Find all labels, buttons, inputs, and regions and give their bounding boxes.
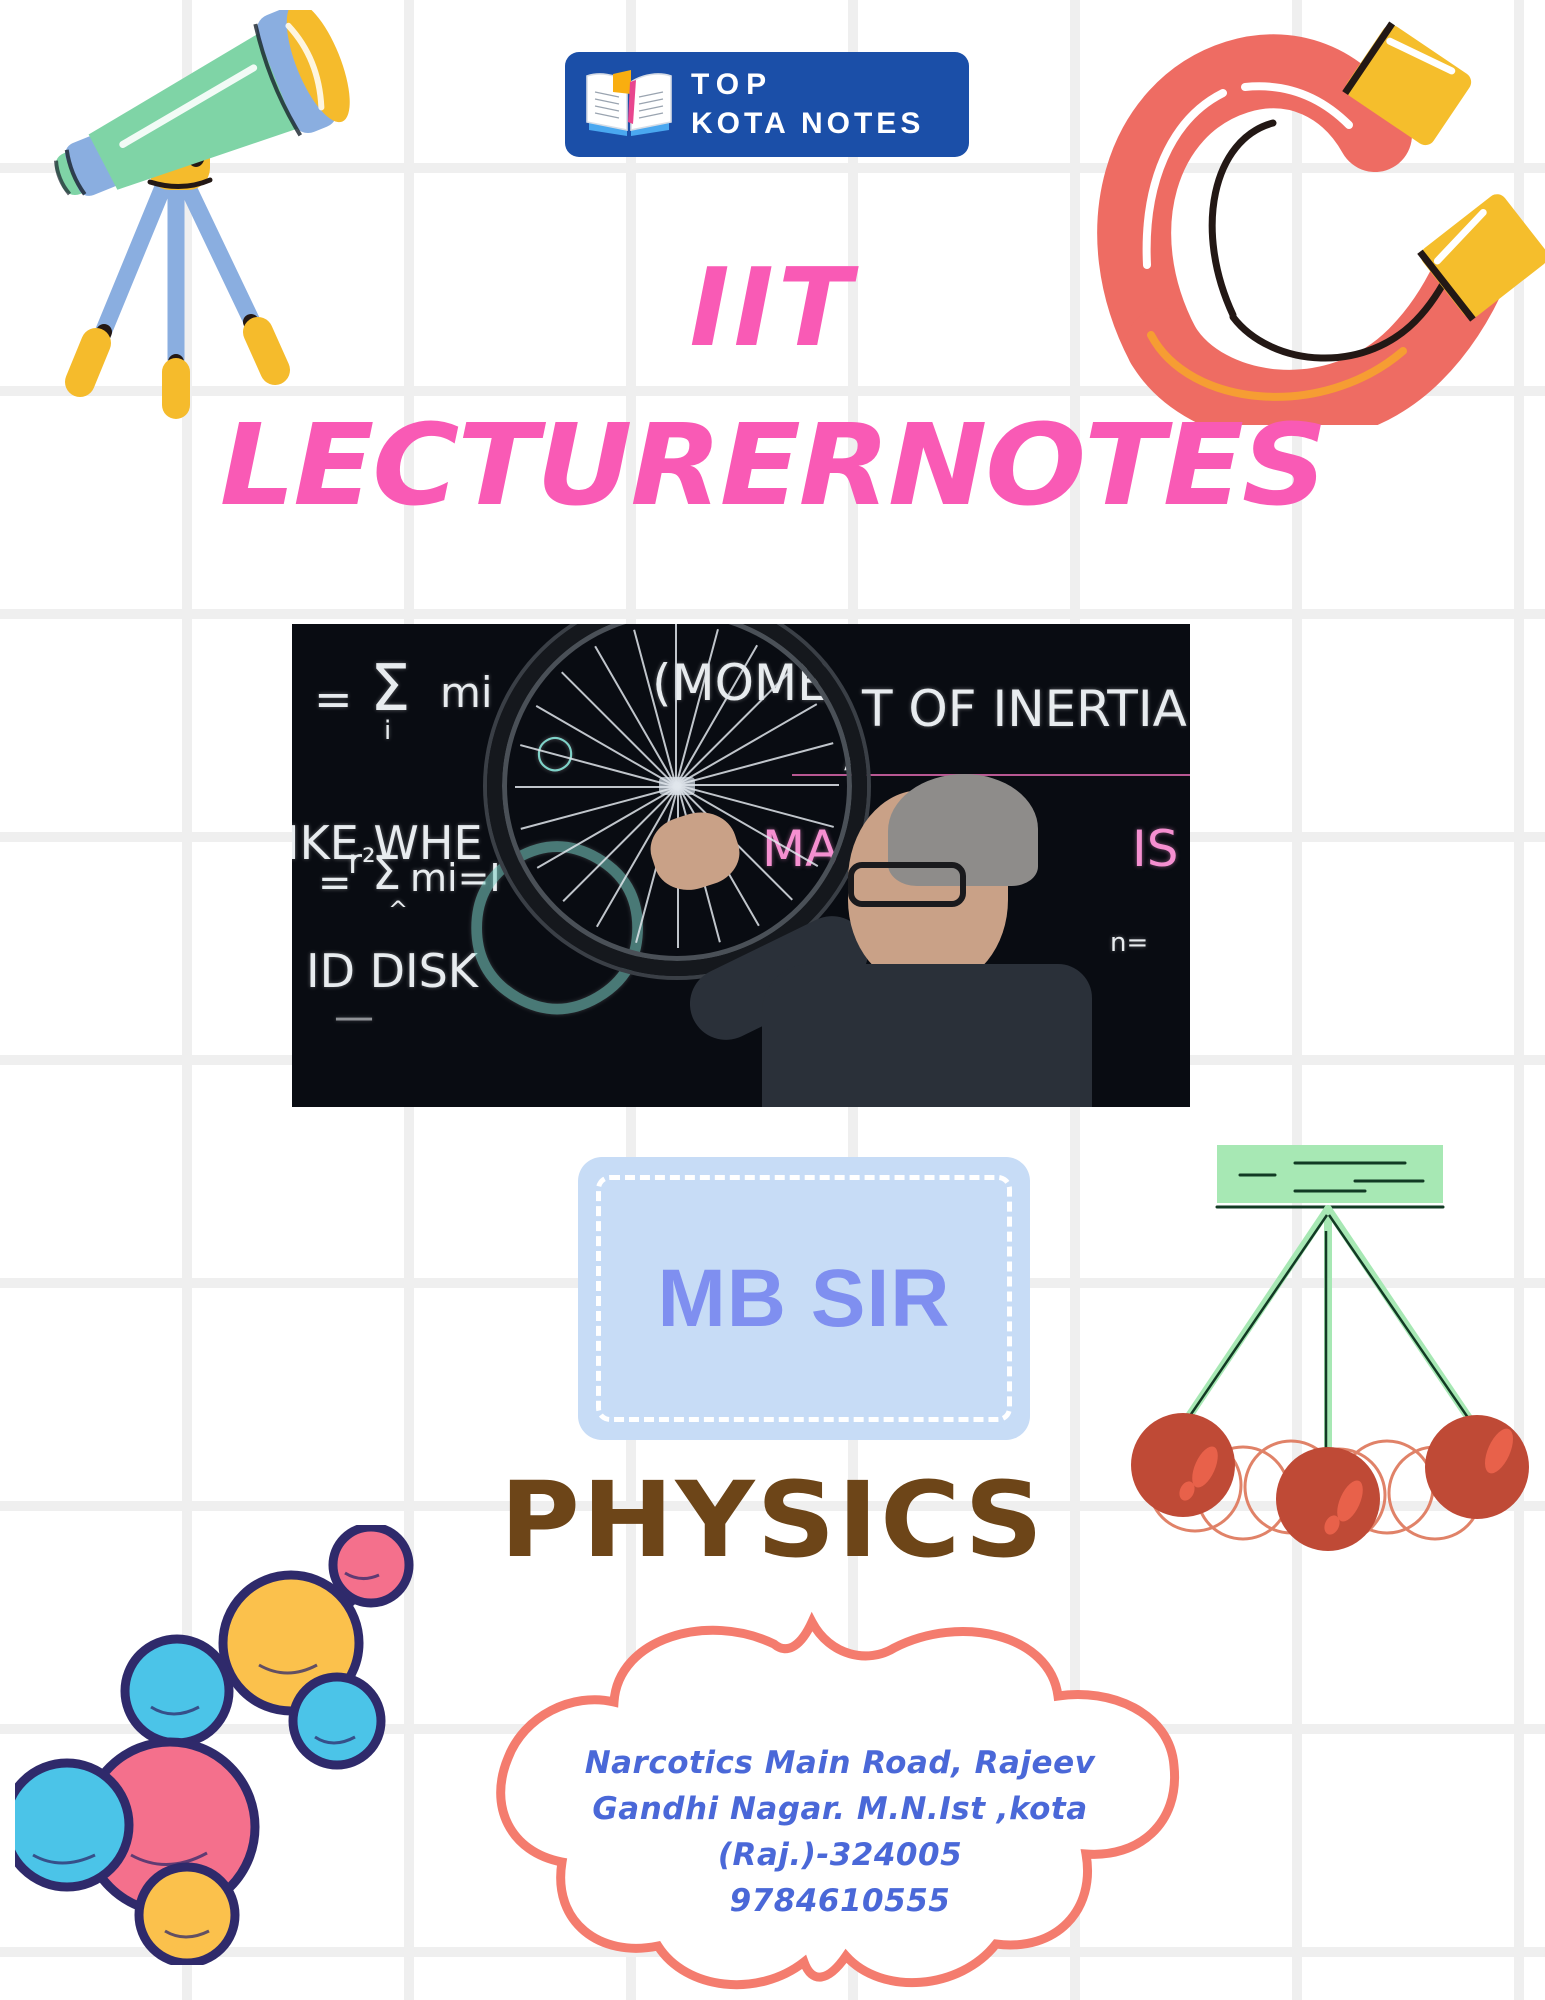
address-line-1: Narcotics Main Road, Rajeev — [490, 1740, 1190, 1786]
telescope-icon — [0, 10, 420, 450]
professor-body — [762, 964, 1092, 1107]
address-line-3: (Raj.)-324005 — [490, 1832, 1190, 1878]
teacher-name-box[interactable]: MB SIR — [578, 1157, 1030, 1440]
address-phone: 9784610555 — [490, 1878, 1190, 1924]
open-book-icon — [583, 66, 675, 144]
physics-lecture-photo: = Σ i mi (MOME T OF INERTIA IKE WHE = r²… — [292, 624, 1190, 1107]
poster-canvas: TOP KOTA NOTES IIT LECTURERNOTES = Σ i m… — [0, 0, 1545, 2000]
title-iit: IIT — [0, 255, 1545, 363]
address-text-block: Narcotics Main Road, Rajeev Gandhi Nagar… — [490, 1740, 1190, 1924]
horseshoe-magnet-icon — [1085, 15, 1545, 425]
logo-line-1: TOP — [691, 70, 924, 100]
title-lecturernotes: LECTURERNOTES — [0, 410, 1545, 522]
address-line-2: Gandhi Nagar. M.N.Ist ,kota — [490, 1786, 1190, 1832]
address-cloud-frame: Narcotics Main Road, Rajeev Gandhi Nagar… — [490, 1600, 1190, 2000]
logo-line-2: KOTA NOTES — [691, 109, 924, 139]
top-kota-notes-logo[interactable]: TOP KOTA NOTES — [565, 52, 969, 157]
professor-glasses-icon — [848, 862, 966, 907]
molecule-icon — [15, 1525, 435, 1965]
teacher-name-label: MB SIR — [658, 1252, 951, 1346]
